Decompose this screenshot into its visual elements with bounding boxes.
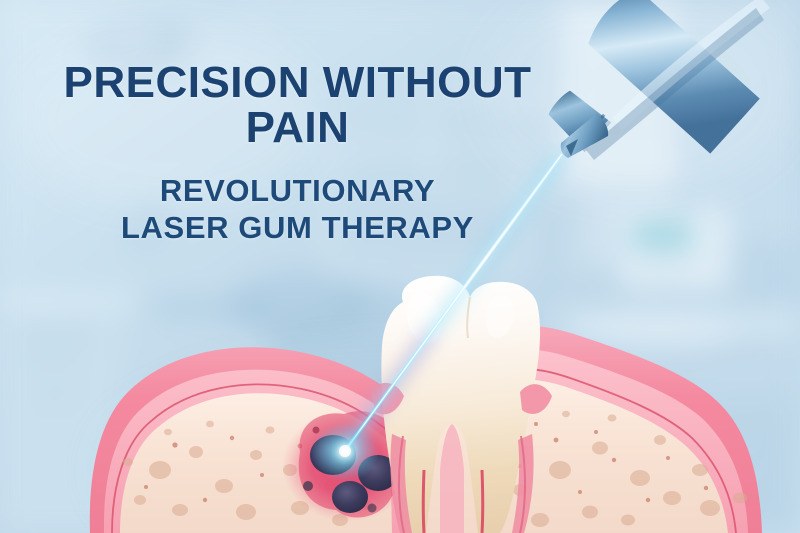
page-title: PRECISION WITHOUT PAIN [0, 60, 595, 150]
dental-laser-poster: PRECISION WITHOUT PAIN REVOLUTIONARY LAS… [0, 0, 800, 533]
poster-text-block: PRECISION WITHOUT PAIN REVOLUTIONARY LAS… [0, 60, 595, 246]
headline-line-2: PAIN [246, 103, 350, 152]
subheadline-line-2: LASER GUM THERAPY [121, 210, 474, 245]
page-subtitle: REVOLUTIONARY LASER GUM THERAPY [0, 172, 595, 246]
headline-line-1: PRECISION WITHOUT [63, 58, 531, 107]
subheadline-line-1: REVOLUTIONARY [160, 173, 435, 208]
